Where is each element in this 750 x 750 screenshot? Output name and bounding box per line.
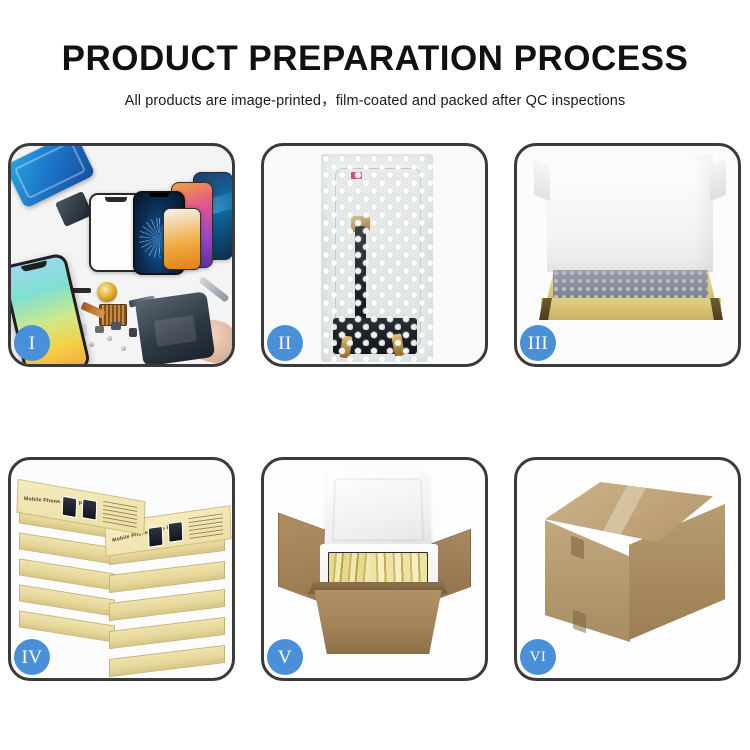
foam-box-lid-graphic bbox=[324, 472, 432, 549]
page-subtitle: All products are image-printed，film-coat… bbox=[0, 91, 750, 111]
step-badge-6: VI bbox=[520, 639, 556, 675]
lid-phone-photo bbox=[62, 496, 78, 519]
step-panel-4[interactable]: Mobile Phone Spare Parts Mobile Phone Sp… bbox=[8, 457, 235, 681]
step-panel-1[interactable]: I Mobile phone LCD screens, display asse… bbox=[8, 143, 235, 367]
orange-phone-graphic bbox=[163, 208, 201, 270]
step-panel-3[interactable]: III Kraft box with white lid and grey fo… bbox=[514, 143, 741, 367]
kraft-tray-front-graphic bbox=[541, 298, 721, 320]
screw-part-graphic bbox=[121, 346, 126, 351]
lid-spec-lines bbox=[103, 501, 138, 529]
small-part-graphic bbox=[129, 328, 137, 337]
carton-seam-graphic bbox=[573, 610, 586, 634]
lid-spec-lines bbox=[189, 513, 224, 540]
step-panel-2[interactable]: II Screen assembly sealed in bubble wrap… bbox=[261, 143, 488, 367]
small-part-graphic bbox=[111, 322, 121, 330]
step-badge-2: II bbox=[267, 325, 303, 361]
stacked-box bbox=[109, 645, 225, 677]
step-badge-1: I bbox=[14, 325, 50, 361]
vibrator-coil-part-graphic bbox=[97, 282, 117, 302]
small-part-graphic bbox=[95, 326, 104, 333]
carton-face-left-graphic bbox=[545, 520, 630, 642]
screen-chip-graphic bbox=[55, 191, 93, 227]
step-badge-4: IV bbox=[14, 639, 50, 675]
step-badge-3: III bbox=[520, 325, 556, 361]
stacked-box bbox=[109, 589, 225, 621]
lid-phone-photo bbox=[168, 521, 184, 543]
bubble-wrap-bag-graphic bbox=[321, 154, 433, 362]
lid-phone-photo bbox=[82, 498, 98, 521]
page-title: PRODUCT PREPARATION PROCESS bbox=[0, 36, 750, 82]
carton-body-graphic bbox=[314, 588, 442, 654]
lid-phone-photo bbox=[148, 526, 164, 548]
phone-back-housing-graphic bbox=[135, 291, 215, 364]
box-stack-graphic: Mobile Phone Spare Parts Mobile Phone Sp… bbox=[17, 478, 229, 678]
step-panel-6[interactable]: VI Sealed brown shipping carton ready fo… bbox=[514, 457, 741, 681]
screw-part-graphic bbox=[89, 342, 94, 347]
product-preparation-infographic: PRODUCT PREPARATION PROCESS All products… bbox=[0, 0, 750, 750]
steps-grid: I Mobile phone LCD screens, display asse… bbox=[8, 143, 742, 673]
stacked-box bbox=[19, 610, 115, 642]
bubble-texture-overlay bbox=[321, 154, 433, 362]
step-badge-5: V bbox=[267, 639, 303, 675]
screw-part-graphic bbox=[107, 336, 112, 341]
white-box-lid-graphic bbox=[547, 154, 713, 272]
grey-foam-padding-graphic bbox=[553, 270, 708, 298]
stacked-box bbox=[109, 617, 225, 649]
step-panel-5[interactable]: V Foam case filled with boxes inside a s… bbox=[261, 457, 488, 681]
phone-notch-icon bbox=[149, 193, 169, 197]
header: PRODUCT PREPARATION PROCESS All products… bbox=[0, 0, 750, 111]
stacked-box bbox=[109, 561, 225, 593]
